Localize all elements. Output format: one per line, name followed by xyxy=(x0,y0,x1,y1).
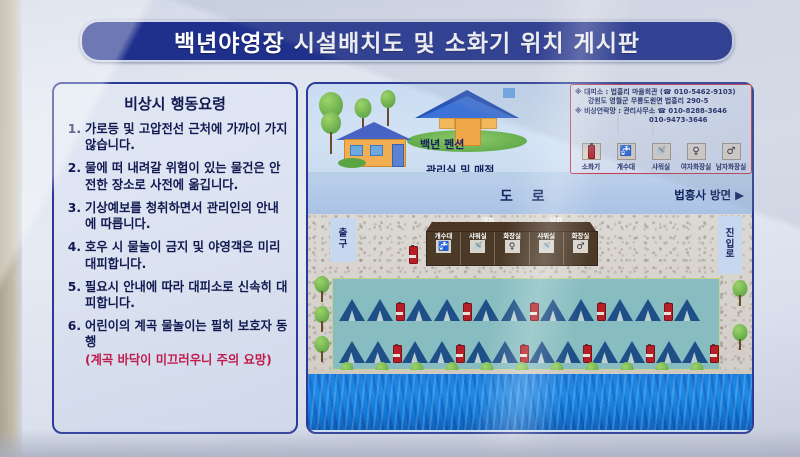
tree-icon xyxy=(314,306,330,332)
women-restroom-icon: ♀ xyxy=(687,143,706,160)
item-text: 물에 떠 내려갈 위험이 있는 물건은 안전한 장소로 사전에 옮깁니다. xyxy=(85,160,288,192)
item-number: 1. xyxy=(64,121,85,153)
shower-icon: 🚿 xyxy=(652,143,671,160)
men-restroom-icon: ♂ xyxy=(573,240,588,253)
exit-marker: 출 구 xyxy=(330,218,356,262)
fire-extinguisher-icon xyxy=(462,299,471,321)
tent-icon xyxy=(682,339,706,363)
tent-icon xyxy=(339,297,365,321)
item-text: 기상예보를 청취하면서 관리인의 안내에 따릅니다. xyxy=(85,200,288,232)
tent-icon xyxy=(529,339,553,363)
legend-label: 샤워실 xyxy=(652,161,670,171)
tent-icon xyxy=(607,297,633,321)
tent-icon xyxy=(406,297,432,321)
facility-cell-men-shower: 샤워실 🚿 xyxy=(530,232,564,265)
sink-icon: 🚰 xyxy=(617,143,636,160)
tent-icon xyxy=(367,297,393,321)
item-number: 6. xyxy=(64,318,85,368)
road-direction-label: 법흥사 방면 ▶ xyxy=(674,187,744,203)
shower-icon: 🚿 xyxy=(470,240,485,253)
item-text: 가로등 및 고압전선 근처에 가까이 가지 않습니다. xyxy=(85,121,288,153)
fire-extinguisher-icon xyxy=(395,299,404,321)
tent-row-top xyxy=(333,285,719,321)
facility-cell-women-shower: 샤워실 🚿 xyxy=(461,232,495,265)
list-item: 4. 호우 시 물놀이 금지 및 야영객은 미리 대피합니다. xyxy=(64,239,288,271)
bottom-shadow-edge xyxy=(0,429,800,457)
fire-extinguisher-icon xyxy=(582,341,590,363)
tent-icon xyxy=(339,339,363,363)
door-shape xyxy=(392,144,404,167)
tent-row-bottom xyxy=(333,327,719,363)
road-label: 도 로 xyxy=(500,186,552,206)
item-number: 2. xyxy=(64,160,85,192)
tent-icon xyxy=(635,297,661,321)
list-item: 3. 기상예보를 청취하면서 관리인의 안내에 따릅니다. xyxy=(64,200,288,232)
entrance-label-char: 로 xyxy=(726,250,735,261)
bush-shape xyxy=(338,158,366,168)
camping-field xyxy=(332,278,720,370)
shelter-address-line: 강원도 영월군 무릉도원면 법흥리 290-5 xyxy=(575,97,747,106)
women-restroom-icon: ♀ xyxy=(505,240,520,253)
sign-title-bar: 백년야영장 시설배치도 및 소화기 위치 게시판 xyxy=(80,20,734,62)
legend-label: 여자화장실 xyxy=(681,161,711,171)
tent-icon xyxy=(619,339,643,363)
fire-extinguisher-icon xyxy=(455,341,463,363)
facility-body: 개수대 🚰 샤워실 🚿 화장실 ♀ 샤워실 🚿 xyxy=(426,231,598,266)
emergency-contact-line-2: 010-9473-3646 xyxy=(575,116,747,125)
entrance-marker: 진 입 로 xyxy=(718,216,742,274)
legend-label: 소화기 xyxy=(582,161,600,171)
legend-label: 남자화장실 xyxy=(716,161,746,171)
left-post-edge xyxy=(0,0,22,457)
fire-extinguisher-icon xyxy=(645,341,653,363)
facility-cell-label: 샤워실 xyxy=(537,233,555,239)
facility-cell-men-restroom: 화장실 ♂ xyxy=(564,232,597,265)
tent-icon xyxy=(434,297,460,321)
fire-extinguisher-icon xyxy=(663,299,672,321)
legend-label: 개수대 xyxy=(617,161,635,171)
shelter-line: ※ 대피소 : 법흥리 마을회관 (☎ 010-5462-9103) xyxy=(575,88,747,97)
tent-icon xyxy=(402,339,426,363)
tree-icon xyxy=(314,336,330,362)
tree-icon xyxy=(732,280,748,306)
tent-icon xyxy=(492,339,516,363)
item-text: 어린이의 계곡 물놀이는 필히 보호자 동행 xyxy=(85,319,287,349)
item-number: 3. xyxy=(64,200,85,232)
sink-icon: 🚰 xyxy=(436,240,451,253)
legend-item-women-restroom: ♀ 여자화장실 xyxy=(679,143,713,171)
fire-extinguisher-icon xyxy=(582,143,601,160)
campground-gravel-area: 출 구 진 입 로 여자 남자 개수대 🚰 샤워실 xyxy=(308,214,752,374)
tent-icon xyxy=(568,297,594,321)
roof-shape xyxy=(426,222,596,231)
legend-item-shower: 🚿 샤워실 xyxy=(644,143,678,171)
tree-icon xyxy=(380,90,396,126)
fire-extinguisher-icon xyxy=(596,299,605,321)
fire-extinguisher-icon xyxy=(529,299,538,321)
facility-cell-women-restroom: 화장실 ♀ xyxy=(495,232,529,265)
facility-cell-label: 화장실 xyxy=(572,233,590,239)
window-shape xyxy=(481,118,497,129)
management-building-illustration xyxy=(336,122,428,168)
tent-icon xyxy=(365,339,389,363)
tent-icon xyxy=(429,339,453,363)
emergency-heading: 비상시 행동요령 xyxy=(54,93,296,114)
roof-highlight-shape xyxy=(419,96,515,118)
facility-cell-label: 화장실 xyxy=(503,233,521,239)
legend-item-extinguisher: 소화기 xyxy=(574,143,608,171)
item-number: 5. xyxy=(64,279,85,311)
shower-icon: 🚿 xyxy=(539,240,554,253)
contact-info-box: ※ 대피소 : 법흥리 마을회관 (☎ 010-5462-9103) 강원도 영… xyxy=(570,84,752,174)
facility-cell-sink: 개수대 🚰 xyxy=(427,232,461,265)
fire-extinguisher-icon xyxy=(519,341,527,363)
emergency-contact-line: ※ 비상연락망 : 관리사무소 ☎ 010-8288-3646 xyxy=(575,107,747,116)
exit-label-char: 구 xyxy=(339,240,348,251)
map-legend: 소화기 🚰 개수대 🚿 샤워실 ♀ 여자화장실 ♂ 남자화장실 xyxy=(574,143,748,171)
roof-shape xyxy=(336,122,412,140)
list-item: 2. 물에 떠 내려갈 위험이 있는 물건은 안전한 장소로 사전에 옮깁니다. xyxy=(64,160,288,192)
legend-item-sink: 🚰 개수대 xyxy=(609,143,643,171)
tent-icon xyxy=(466,339,490,363)
facility-building: 여자 남자 개수대 🚰 샤워실 🚿 화장실 ♀ xyxy=(426,222,596,264)
fire-extinguisher-icon xyxy=(709,341,717,363)
tree-icon xyxy=(314,276,330,302)
legend-item-men-restroom: ♂ 남자화장실 xyxy=(714,143,748,171)
list-item: 1. 가로등 및 고압전선 근처에 가까이 가지 않습니다. xyxy=(64,121,288,153)
facility-cell-label: 샤워실 xyxy=(469,233,487,239)
tree-icon xyxy=(732,324,748,350)
tent-icon xyxy=(674,297,700,321)
tent-icon xyxy=(555,339,579,363)
facility-cell-label: 개수대 xyxy=(435,233,453,239)
item-text: 필요시 안내에 따라 대피소로 신속히 대피합니다. xyxy=(85,279,288,311)
men-restroom-icon: ♂ xyxy=(722,143,741,160)
item-text: 호우 시 물놀이 금지 및 야영객은 미리 대피합니다. xyxy=(85,239,288,271)
window-shape xyxy=(439,118,455,129)
window-shape xyxy=(370,145,383,156)
road-strip: 도 로 법흥사 방면 ▶ xyxy=(308,182,752,214)
fire-extinguisher-icon xyxy=(392,341,400,363)
tent-icon xyxy=(540,297,566,321)
tent-icon xyxy=(473,297,499,321)
page-title: 백년야영장 시설배치도 및 소화기 위치 게시판 xyxy=(174,24,640,58)
item-number: 4. xyxy=(64,239,85,271)
tent-icon xyxy=(656,339,680,363)
list-item: 5. 필요시 안내에 따라 대피소로 신속히 대피합니다. xyxy=(64,279,288,311)
river-water xyxy=(308,374,752,430)
item-warning-note: (계곡 바닥이 미끄러우니 주의 요망) xyxy=(85,352,288,368)
tent-icon xyxy=(501,297,527,321)
window-shape xyxy=(350,145,363,156)
emergency-instructions-panel: 비상시 행동요령 1. 가로등 및 고압전선 근처에 가까이 가지 않습니다. … xyxy=(52,82,298,434)
list-item: 6. 어린이의 계곡 물놀이는 필히 보호자 동행 (계곡 바닥이 미끄러우니 … xyxy=(64,318,288,368)
fire-extinguisher-icon xyxy=(408,242,417,264)
signboard: 백년야영장 시설배치도 및 소화기 위치 게시판 비상시 행동요령 1. 가로등… xyxy=(0,0,800,457)
emergency-list: 1. 가로등 및 고압전선 근처에 가까이 가지 않습니다. 2. 물에 떠 내… xyxy=(54,121,296,368)
tent-icon xyxy=(592,339,616,363)
